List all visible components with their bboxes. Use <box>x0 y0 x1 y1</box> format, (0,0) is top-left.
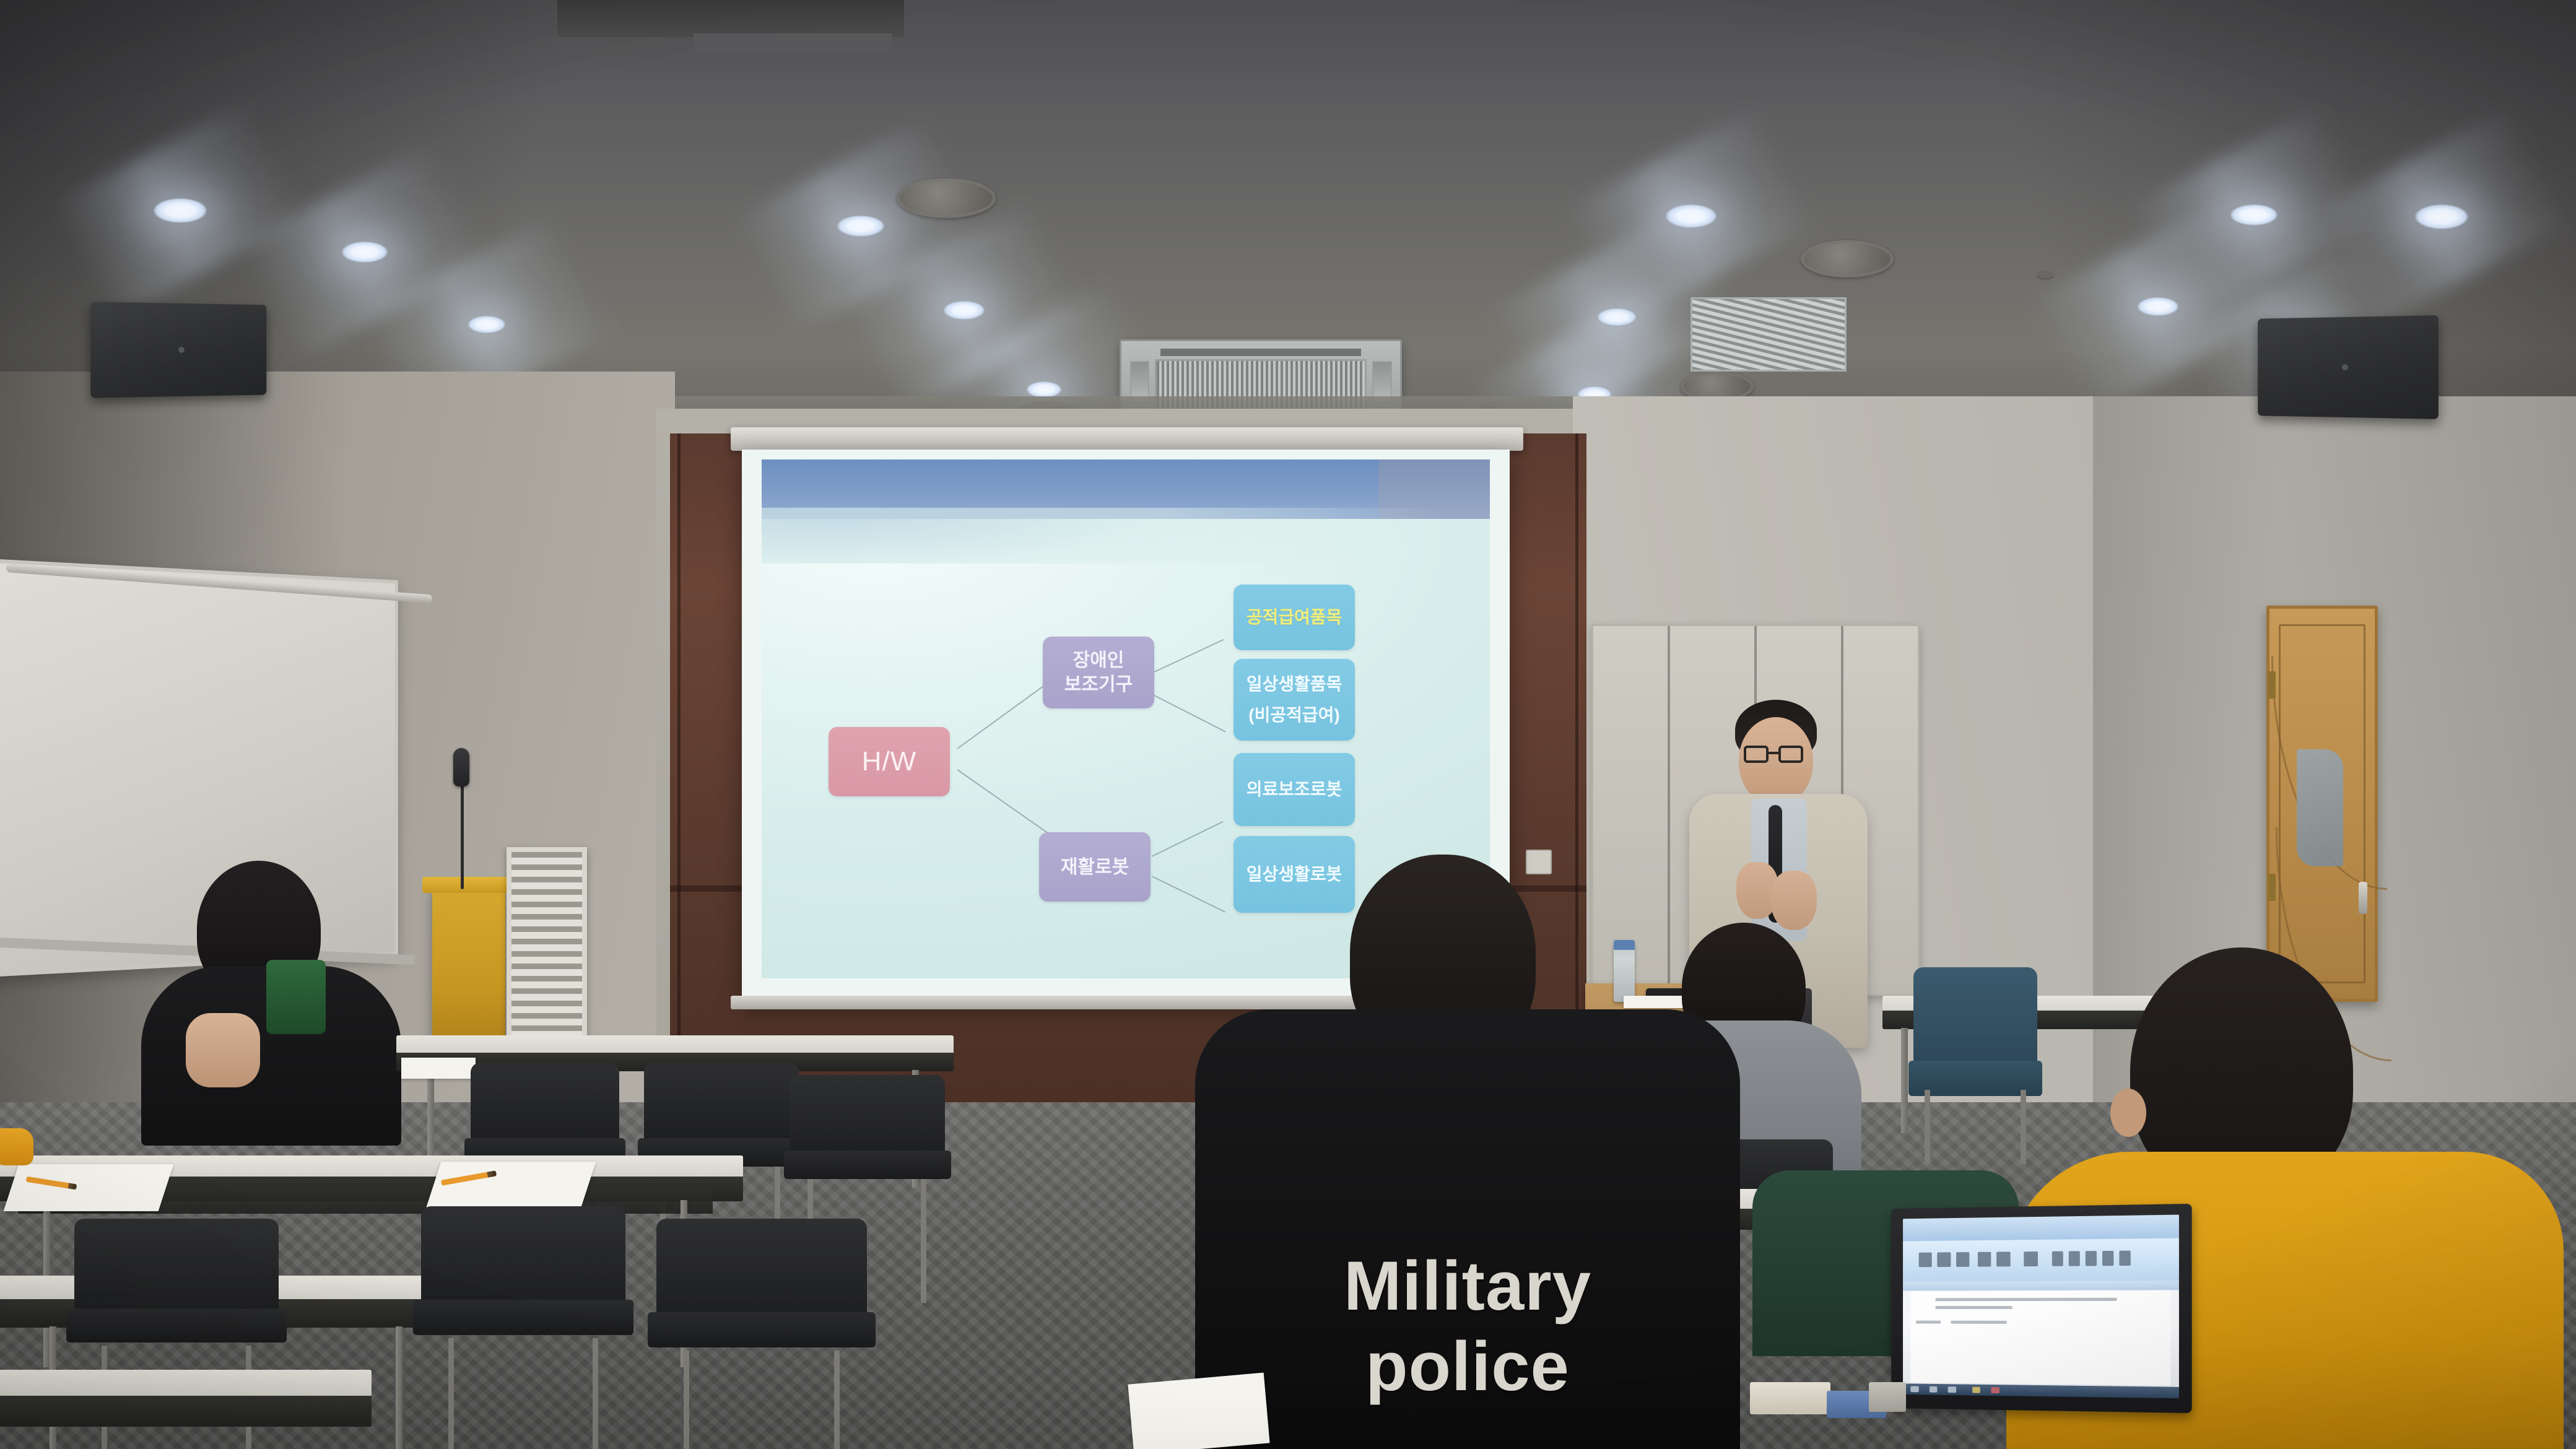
diagram-edge <box>1152 694 1226 733</box>
speaker-driver-icon <box>2342 364 2348 370</box>
door-glass-panel <box>2297 749 2343 866</box>
node-label-line1: 장애인 <box>1073 648 1125 672</box>
diagram-node-root: H/W <box>829 727 950 796</box>
laptop-screen[interactable] <box>1903 1214 2180 1398</box>
taskbar-icon[interactable] <box>1930 1386 1938 1393</box>
podium <box>432 885 505 1053</box>
podium-top-surface <box>422 877 515 893</box>
document-text-line <box>1936 1306 2012 1309</box>
table-top <box>396 1035 954 1054</box>
window-ribbon-toolbar[interactable] <box>1903 1238 2180 1282</box>
paper-sheet <box>401 1058 476 1079</box>
chair-seat <box>648 1312 875 1347</box>
door-hinge-icon <box>2268 874 2276 901</box>
chair-back <box>471 1063 619 1143</box>
recessed-downlight <box>2230 204 2278 225</box>
toolbar-icon[interactable] <box>2085 1251 2096 1266</box>
ceiling-panel-edge <box>694 33 892 52</box>
toolbar-icon[interactable] <box>1956 1252 1970 1267</box>
paper-sheet <box>1128 1373 1269 1449</box>
chair-back <box>790 1075 945 1155</box>
chair-leg <box>1925 1090 1930 1164</box>
document-text-line <box>1936 1297 2117 1300</box>
door-handle-icon[interactable] <box>2359 882 2367 914</box>
recessed-downlight <box>2415 204 2468 229</box>
table-top <box>0 1370 372 1397</box>
chair[interactable] <box>656 1219 867 1380</box>
desk-item-box <box>1750 1382 1830 1414</box>
diagram-node-leaf-3: 의료보조로봇 <box>1234 753 1355 826</box>
microphone-icon <box>453 748 469 786</box>
wooden-door[interactable] <box>2266 606 2378 1002</box>
door-hinge-icon <box>2268 671 2276 698</box>
wood-panel-seam <box>677 433 681 1127</box>
chair-back <box>74 1219 279 1315</box>
taskbar-icon[interactable] <box>1911 1386 1919 1392</box>
wall-speaker <box>2258 315 2439 419</box>
table-edge <box>0 1396 372 1427</box>
document-text-line <box>1916 1321 1941 1324</box>
attendee-ear <box>2110 1089 2146 1137</box>
microphone-stand <box>461 780 464 889</box>
chair-back <box>644 1063 799 1143</box>
ceiling-speaker <box>1801 240 1894 277</box>
toolbar-icon[interactable] <box>1938 1252 1951 1267</box>
ac-air-bar <box>1160 349 1361 356</box>
ribbon-tab[interactable] <box>1903 1218 1927 1231</box>
diagram-edge <box>1152 639 1224 674</box>
toolbar-icon[interactable] <box>1918 1253 1932 1268</box>
ceiling-louver-vent <box>1690 297 1847 372</box>
speaker-driver-icon <box>178 347 185 353</box>
chair-seat <box>784 1151 951 1179</box>
node-label-line1: 일상생활품목 <box>1247 673 1342 695</box>
wall-speaker <box>90 302 266 398</box>
chair-seat <box>413 1300 633 1335</box>
chair-back <box>421 1206 625 1306</box>
person-military-police: Military police <box>1195 855 1740 1449</box>
glasses-bridge <box>1769 752 1778 754</box>
desk-item-box <box>1869 1382 1906 1412</box>
toolbar-icon[interactable] <box>2119 1251 2130 1266</box>
recessed-downlight <box>2138 297 2178 316</box>
table-leg <box>396 1326 402 1449</box>
recessed-downlight <box>837 215 884 237</box>
node-label: H/W <box>862 744 917 779</box>
green-item <box>266 960 326 1034</box>
attendee-arm <box>186 1013 260 1087</box>
paper-sheet <box>4 1164 174 1211</box>
document-text-line <box>1951 1321 2007 1324</box>
glasses-icon <box>1744 746 1769 763</box>
taskbar-icon[interactable] <box>1991 1387 1999 1394</box>
node-label: 의료보조로봇 <box>1247 778 1342 801</box>
table <box>0 1370 372 1449</box>
ceiling-panel <box>557 0 904 37</box>
chair-leg <box>684 1351 689 1449</box>
recessed-downlight <box>468 316 505 333</box>
toolbar-icon[interactable] <box>2068 1251 2079 1266</box>
smoke-detector-icon <box>2037 271 2053 279</box>
toolbar-icon[interactable] <box>2052 1251 2063 1266</box>
taskbar-icon[interactable] <box>1948 1386 1956 1393</box>
document-page[interactable] <box>1911 1290 2171 1385</box>
recessed-downlight <box>944 301 985 320</box>
ceiling-speaker <box>897 178 996 218</box>
paper-sheet <box>426 1162 596 1209</box>
chair[interactable] <box>790 1075 945 1205</box>
toolbar-icon[interactable] <box>2102 1251 2113 1266</box>
wall-louver-vent <box>507 847 587 1044</box>
projection-screen-housing <box>731 427 1523 451</box>
diagram-node-branch-1: 장애인 보조기구 <box>1043 637 1154 708</box>
toolbar-icon[interactable] <box>1978 1252 1991 1267</box>
diagram-node-branch-2: 재활로봇 <box>1039 832 1151 902</box>
document-ruler <box>1903 1281 2180 1290</box>
toolbar-icon[interactable] <box>1996 1251 2010 1266</box>
jacket-text-line2: police <box>1195 1331 1740 1402</box>
recessed-downlight <box>342 241 388 263</box>
glasses-icon <box>1778 746 1803 763</box>
chair-seat <box>66 1308 287 1342</box>
node-label-line2: (비공적급여) <box>1248 704 1339 726</box>
recessed-downlight <box>1598 308 1636 326</box>
chair[interactable] <box>421 1206 625 1367</box>
node-label-line2: 보조기구 <box>1064 672 1133 697</box>
slide-curve-highlight <box>762 508 1490 563</box>
chair-leg <box>921 1179 926 1303</box>
recessed-downlight <box>1666 204 1717 228</box>
node-label: 공적급여품목 <box>1247 606 1342 629</box>
chair[interactable] <box>74 1219 279 1373</box>
node-label: 재활로봇 <box>1061 855 1129 879</box>
seminar-room-photo: H/W 장애인 보조기구 재활로봇 공적급여품목 일상생활품목 (비공적급여) … <box>0 0 2576 1449</box>
diagram-edge <box>1152 821 1224 857</box>
chair-leg <box>593 1338 598 1449</box>
laptop[interactable] <box>1891 1204 2192 1413</box>
diagram-node-leaf-1: 공적급여품목 <box>1234 585 1355 650</box>
recessed-downlight <box>1027 381 1061 398</box>
presenter-hand <box>1771 871 1817 930</box>
table-leg <box>1901 1028 1908 1133</box>
chair-leg <box>448 1338 454 1449</box>
window-titlebar <box>1903 1214 2180 1242</box>
toolbar-icon[interactable] <box>2024 1251 2038 1266</box>
diagram-node-leaf-2: 일상생활품목 (비공적급여) <box>1234 659 1355 741</box>
chair-leg <box>834 1351 840 1449</box>
taskbar-icon[interactable] <box>1972 1387 1980 1394</box>
orange-item <box>0 1128 33 1165</box>
jacket-text-line1: Military <box>1195 1251 1740 1321</box>
recessed-downlight <box>154 198 207 223</box>
chair-back <box>656 1219 867 1318</box>
